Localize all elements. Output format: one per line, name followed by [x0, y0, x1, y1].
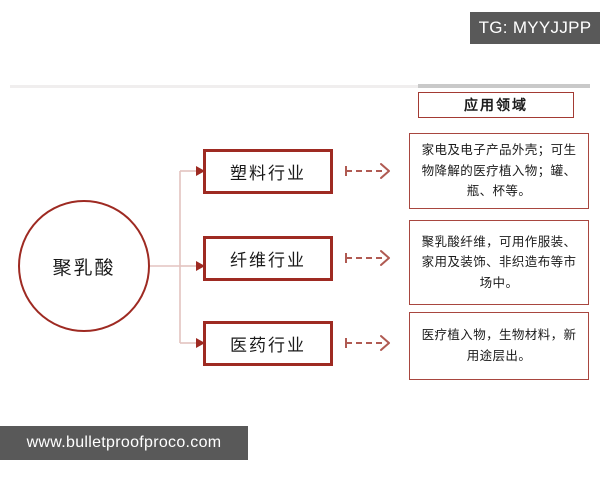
category-label: 塑料行业: [230, 159, 306, 184]
root-node-circle[interactable]: 聚乳酸: [18, 200, 150, 332]
description-box-plastics: 家电及电子产品外壳；可生物降解的医疗植入物；罐、瓶、杯等。: [409, 133, 589, 209]
website-watermark-badge: www.bulletproofproco.com: [0, 426, 248, 460]
column-header-box: 应用领域: [418, 92, 574, 118]
column-header-label: 应用领域: [464, 95, 528, 115]
telegram-watermark-badge: TG: MYYJJPP: [470, 12, 600, 44]
description-text: 家电及电子产品外壳；可生物降解的医疗植入物；罐、瓶、杯等。: [418, 140, 580, 202]
dashed-arrow-1: [346, 164, 389, 178]
category-box-plastics[interactable]: 塑料行业: [203, 149, 333, 194]
description-box-pharma: 医疗植入物，生物材料，新用途层出。: [409, 312, 589, 380]
description-text: 医疗植入物，生物材料，新用途层出。: [418, 325, 580, 366]
category-label: 医药行业: [230, 331, 306, 356]
root-node-label: 聚乳酸: [52, 253, 115, 280]
root-to-categories-connector: [150, 166, 205, 348]
dashed-arrow-2: [346, 251, 389, 265]
diagram-canvas: 聚乳酸 应用领域 塑料行业 纤维行业 医药行业 家电及电子产品外壳；可生物降解的…: [0, 0, 600, 480]
category-box-fiber[interactable]: 纤维行业: [203, 236, 333, 281]
dashed-arrow-3: [346, 336, 389, 350]
telegram-watermark-text: TG: MYYJJPP: [479, 18, 592, 38]
description-box-fiber: 聚乳酸纤维，可用作服装、家用及装饰、非织造布等市场中。: [409, 220, 589, 305]
category-label: 纤维行业: [230, 246, 306, 271]
category-box-pharma[interactable]: 医药行业: [203, 321, 333, 366]
website-watermark-text: www.bulletproofproco.com: [27, 434, 222, 452]
description-text: 聚乳酸纤维，可用作服装、家用及装饰、非织造布等市场中。: [418, 232, 580, 294]
